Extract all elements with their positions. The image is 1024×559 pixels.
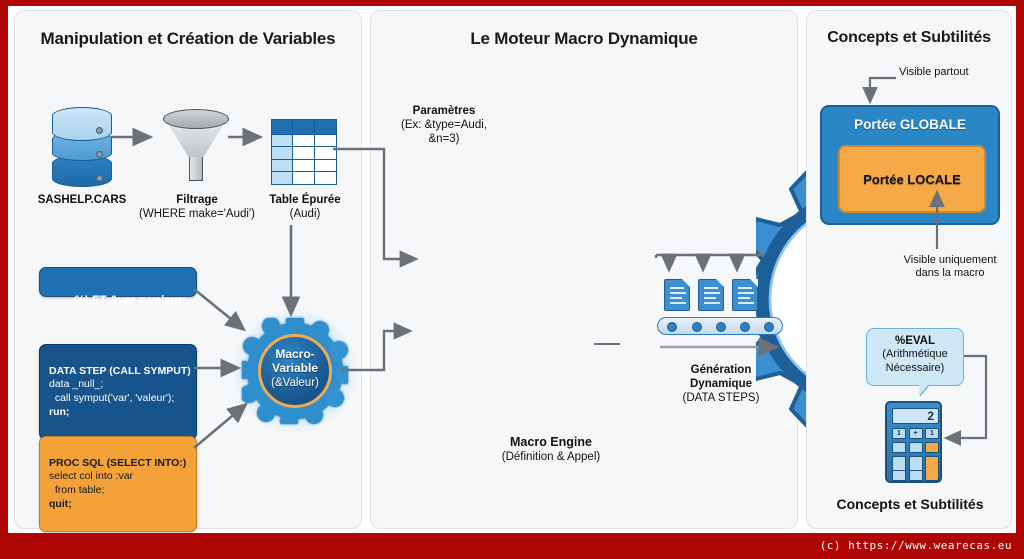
code-box-procsql-header: PROC SQL (SELECT INTO:) xyxy=(49,457,186,469)
code-line: select col into :var xyxy=(49,470,133,482)
db-indicator-dot xyxy=(96,127,103,134)
conveyor-roller xyxy=(764,322,774,332)
funnel-rim xyxy=(163,109,229,129)
table-icon xyxy=(271,119,337,185)
note-visible-everywhere: Visible partout xyxy=(899,66,1009,79)
db-indicator-dot xyxy=(96,151,103,158)
calculator-key[interactable]: 1 xyxy=(892,428,906,439)
panel-right-title: Concepts et Subtilités xyxy=(807,29,1011,47)
db-indicator-dot xyxy=(96,175,103,182)
conveyor-belt xyxy=(657,317,783,335)
calculator-key-row-4 xyxy=(892,470,939,481)
calculator-key[interactable]: + xyxy=(909,428,923,439)
scope-local-label: Portée LOCALE xyxy=(840,172,984,187)
conveyor-roller xyxy=(692,322,702,332)
outer-frame: Manipulation et Création de Variables SA… xyxy=(0,0,1024,559)
conveyor-roller xyxy=(716,322,726,332)
code-box-datastep[interactable]: DATA STEP (CALL SYMPUT) data _null_; cal… xyxy=(39,344,197,440)
calculator-key-row-3 xyxy=(892,456,939,467)
code-line: run; xyxy=(49,406,69,418)
code-line: quit; xyxy=(49,498,72,510)
scope-global-label: Portée GLOBALE xyxy=(822,117,998,132)
scope-global-box: Portée GLOBALE Portée LOCALE xyxy=(820,105,1000,225)
panel-left-title: Manipulation et Création de Variables xyxy=(15,29,361,49)
panel-center-title: Le Moteur Macro Dynamique xyxy=(371,29,797,49)
calculator-key-row-1: 1 + 1 xyxy=(892,428,939,439)
funnel-icon xyxy=(163,109,229,191)
engine-caption: Macro Engine (Définition & Appel) xyxy=(431,435,671,464)
db-tier-top xyxy=(52,107,112,141)
source-caption: SASHELP.CARS xyxy=(21,193,143,207)
table-caption: Table Épurée (Audi) xyxy=(255,193,355,221)
note-visible-in-macro: Visible uniquement dans la macro xyxy=(887,254,1013,281)
conveyor-roller xyxy=(667,322,677,332)
concepts-bottom-title: Concepts et Subtilités xyxy=(807,496,1013,513)
eval-callout: %EVAL (Arithmétique Nécessaire) xyxy=(866,328,964,386)
database-icon xyxy=(52,107,112,189)
code-line: data _null_; xyxy=(49,378,103,390)
table-row xyxy=(272,147,336,159)
eval-title: %EVAL xyxy=(867,334,963,348)
calculator-key[interactable] xyxy=(892,470,906,481)
eval-sub2: Nécessaire) xyxy=(886,362,945,374)
code-box-datastep-header: DATA STEP (CALL SYMPUT) xyxy=(49,365,191,377)
scope-local-box: Portée LOCALE xyxy=(838,145,986,213)
infographic-canvas: Manipulation et Création de Variables SA… xyxy=(8,6,1016,533)
calculator-key-operator[interactable] xyxy=(925,442,939,453)
generation-caption: Génération Dynamique (DATA STEPS) xyxy=(657,363,785,405)
calculator-key-row-2 xyxy=(892,442,939,453)
table-row xyxy=(272,172,336,184)
document-icon xyxy=(664,279,690,311)
footer-credit: (c) https://www.wearecas.eu xyxy=(0,533,1024,559)
code-box-procsql[interactable]: PROC SQL (SELECT INTO:) select col into … xyxy=(39,436,197,532)
conveyor-roller xyxy=(740,322,750,332)
panel-macro-engine: Le Moteur Macro Dynamique Paramètres (Ex… xyxy=(370,10,798,529)
code-line: call symput('var', 'valeur'); xyxy=(49,392,174,404)
calculator-icon: 2 1 + 1 xyxy=(885,401,942,483)
calculator-key[interactable] xyxy=(909,442,923,453)
parameters-caption: Paramètres (Ex: &type=Audi, &n=3) xyxy=(379,104,509,146)
panel-variable-creation: Manipulation et Création de Variables SA… xyxy=(14,10,362,529)
calculator-key[interactable]: 1 xyxy=(925,428,939,439)
code-line: from table; xyxy=(49,484,104,496)
document-icon xyxy=(732,279,758,311)
funnel-stem xyxy=(189,157,203,181)
calculator-key[interactable] xyxy=(909,470,923,481)
calculator-display: 2 xyxy=(892,408,939,424)
calculator-key[interactable] xyxy=(892,442,906,453)
macro-variable-node: Macro- Variable (&Valeur) xyxy=(247,323,343,419)
table-row xyxy=(272,160,336,172)
eval-sub1: (Arithmétique xyxy=(882,348,947,360)
table-row xyxy=(272,135,336,147)
table-header-row xyxy=(272,120,336,135)
document-icon xyxy=(698,279,724,311)
macro-variable-label: Macro- Variable (&Valeur) xyxy=(247,347,343,391)
filter-caption: Filtrage (WHERE make='Audi') xyxy=(131,193,263,221)
code-box-let[interactable]: %LET &var = valeur; xyxy=(39,267,197,297)
